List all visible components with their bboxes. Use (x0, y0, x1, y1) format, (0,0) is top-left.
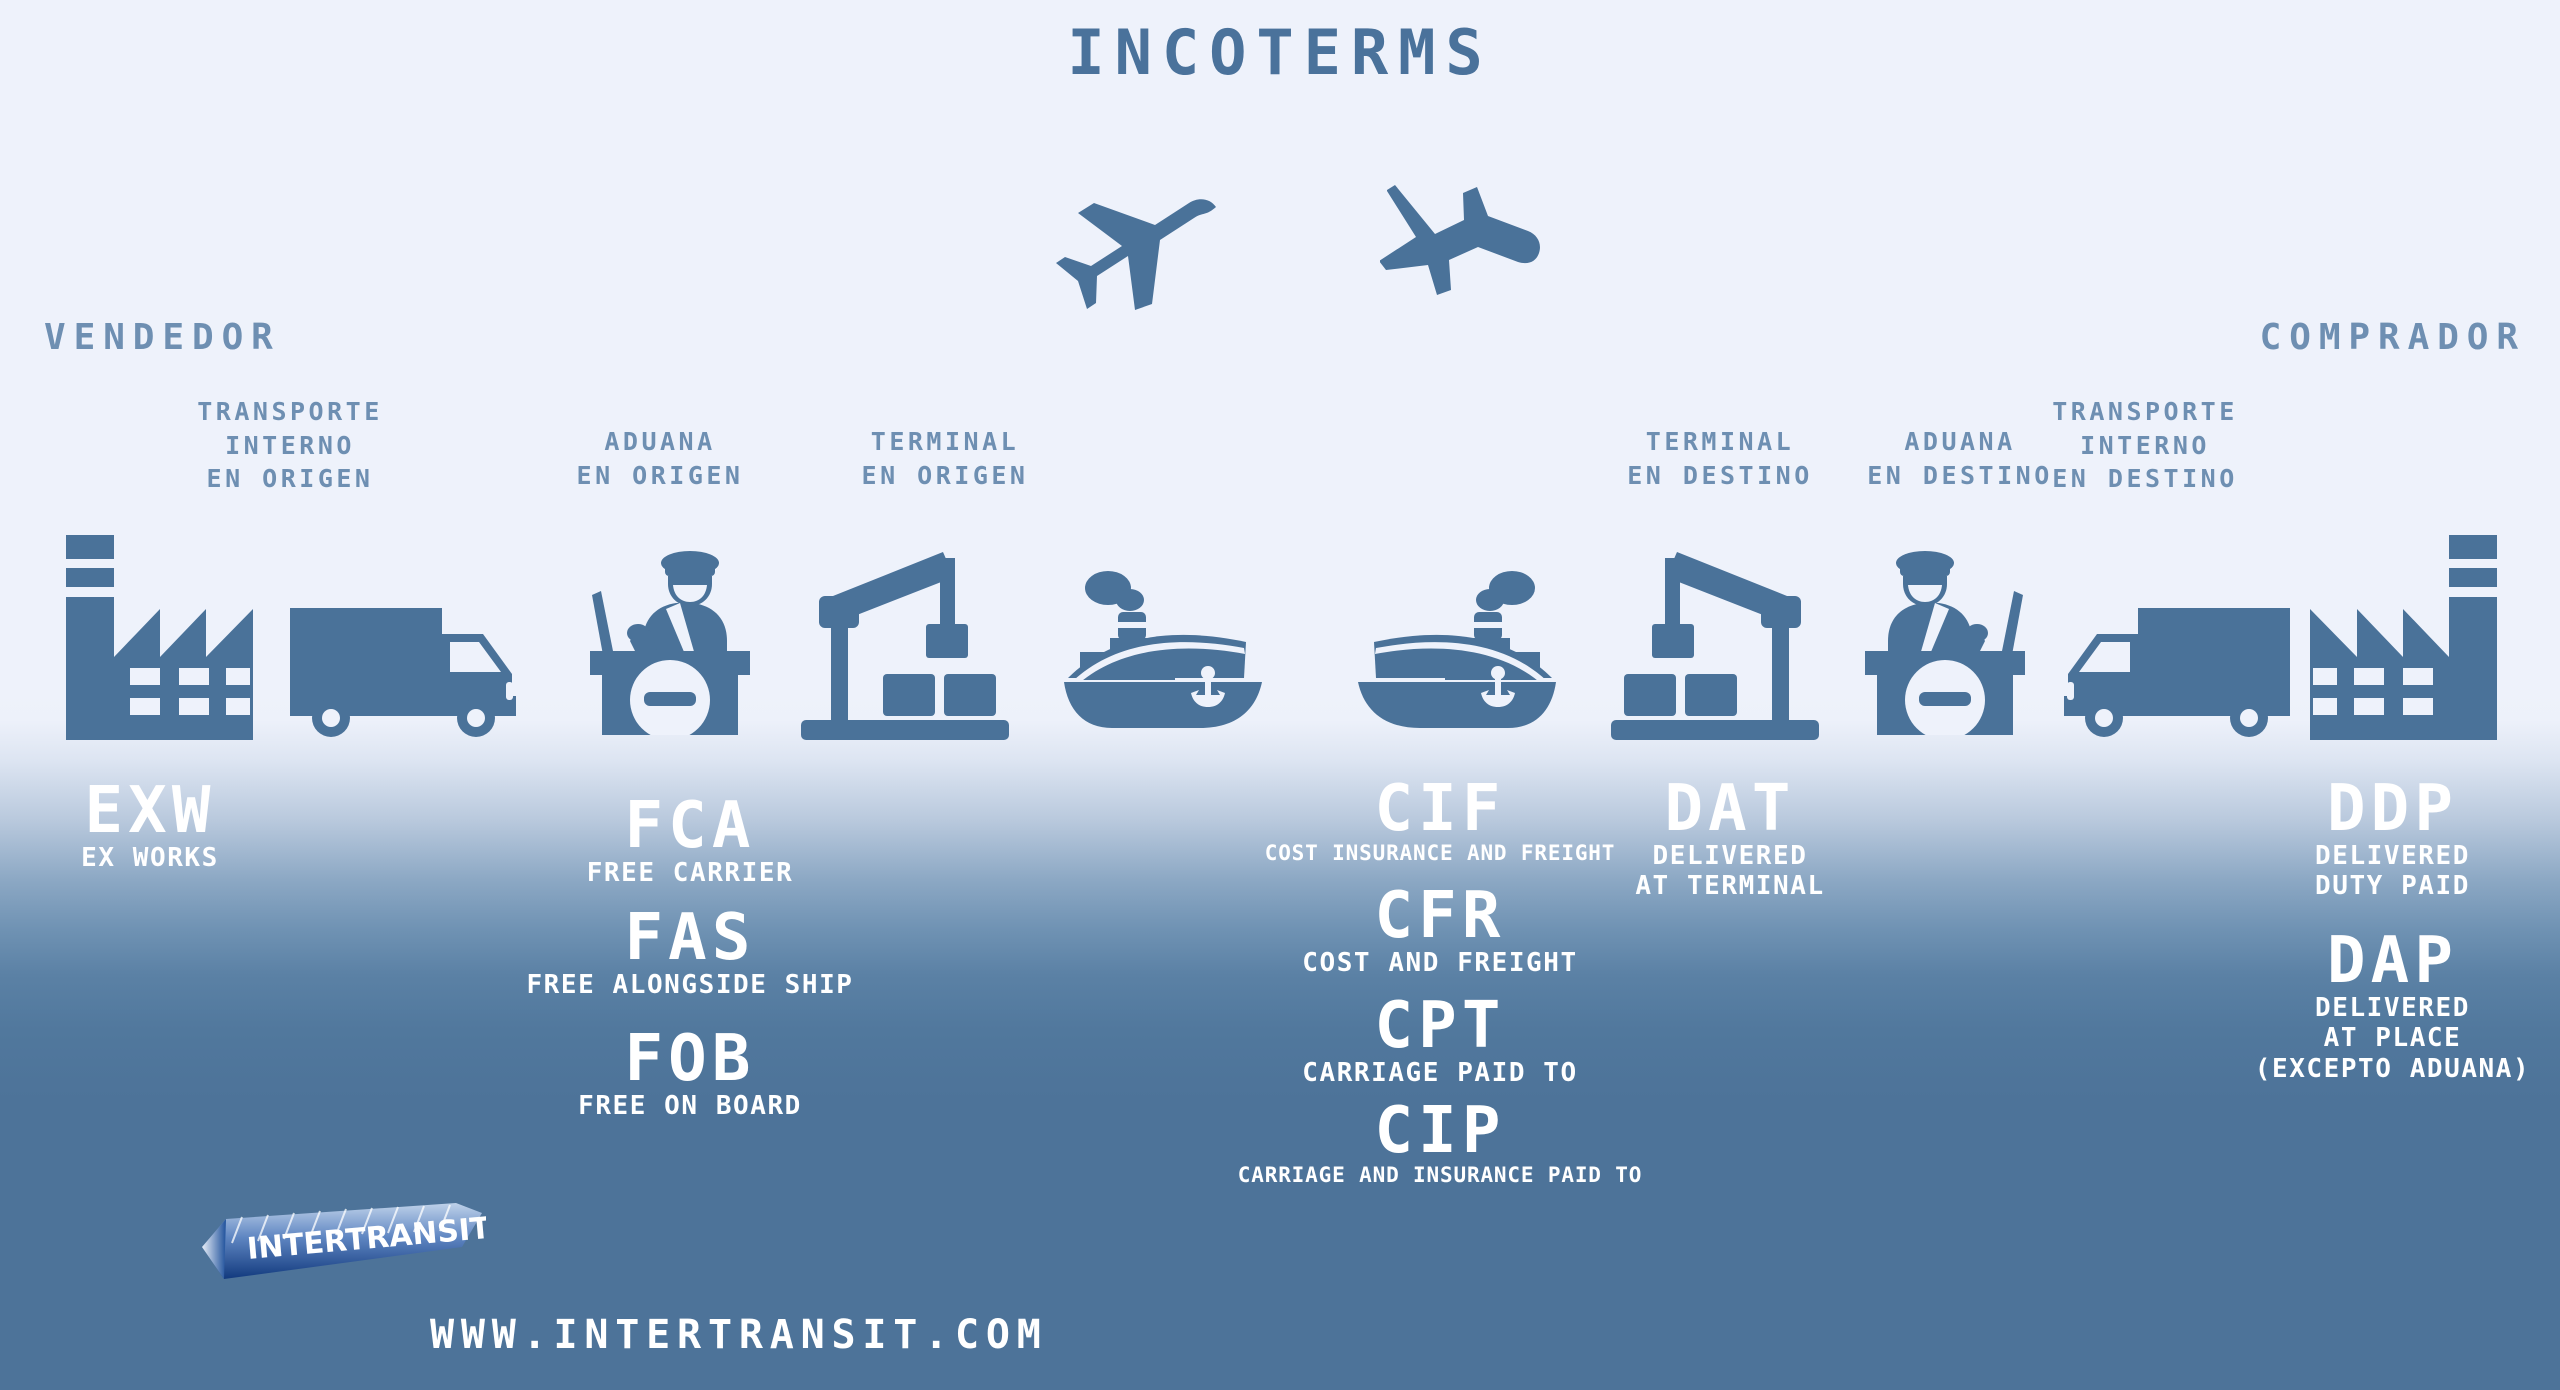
customs-officer-origin-icon (580, 545, 760, 735)
term-cip-desc: CARRIAGE AND INSURANCE PAID TO (1200, 1163, 1680, 1188)
term-cpt-desc: CARRIAGE PAID TO (1200, 1058, 1680, 1089)
term-fas: FAS FREE ALONGSIDE SHIP (440, 907, 940, 1000)
stage-header-terminal-origen: TERMINAL EN ORIGEN (820, 425, 1070, 492)
term-dap-code: DAP (2225, 930, 2560, 993)
term-ddp-desc: DELIVERED DUTY PAID (2225, 841, 2560, 902)
cargo-ship-outbound-icon (1050, 560, 1280, 732)
term-cip: CIP CARRIAGE AND INSURANCE PAID TO (1200, 1100, 1680, 1187)
stage-header-transporte-interno-origen: TRANSPORTE INTERNO EN ORIGEN (170, 395, 410, 496)
term-cip-code: CIP (1200, 1100, 1680, 1163)
port-crane-origin-icon (795, 552, 1015, 740)
factory-destination-icon (2310, 535, 2525, 740)
term-fob-code: FOB (440, 1028, 940, 1091)
term-fca-code: FCA (440, 795, 940, 858)
term-fca-desc: FREE CARRIER (440, 858, 940, 889)
page-title: INCOTERMS (0, 16, 2560, 89)
incoterms-infographic: INCOTERMS VENDEDOR COMPRADOR TRANSPORTE … (0, 0, 2560, 1390)
term-fas-code: FAS (440, 907, 940, 970)
cargo-ship-inbound-icon (1340, 560, 1570, 732)
website-url[interactable]: WWW.INTERTRANSIT.COM (430, 1312, 1048, 1358)
term-ddp-code: DDP (2225, 778, 2560, 841)
term-fob-desc: FREE ON BOARD (440, 1091, 940, 1122)
term-cpt-code: CPT (1200, 995, 1680, 1058)
term-fob: FOB FREE ON BOARD (440, 1028, 940, 1121)
term-dap-desc: DELIVERED AT PLACE (EXCEPTO ADUANA) (2225, 993, 2560, 1085)
truck-destination-icon (2060, 608, 2290, 738)
stage-header-transporte-interno-destino: TRANSPORTE INTERNO EN DESTINO (2020, 395, 2270, 496)
truck-origin-icon (290, 608, 520, 738)
term-dat-code: DAT (1570, 778, 1890, 841)
factory-origin-icon (38, 535, 253, 740)
term-exw: EXW EX WORKS (0, 780, 300, 873)
airplane-departing-icon (1035, 180, 1225, 320)
seller-label: VENDEDOR (44, 317, 281, 358)
term-cpt: CPT CARRIAGE PAID TO (1200, 995, 1680, 1088)
term-fas-desc: FREE ALONGSIDE SHIP (440, 970, 940, 1001)
term-exw-desc: EX WORKS (0, 843, 300, 874)
stage-header-terminal-destino: TERMINAL EN DESTINO (1595, 425, 1845, 492)
term-ddp: DDP DELIVERED DUTY PAID (2225, 778, 2560, 902)
intertransit-logo[interactable]: INTERTRANSIT (196, 1203, 486, 1281)
airplane-arriving-icon (1380, 180, 1550, 320)
term-dap: DAP DELIVERED AT PLACE (EXCEPTO ADUANA) (2225, 930, 2560, 1085)
buyer-label: COMPRADOR (2260, 317, 2526, 358)
customs-officer-destination-icon (1855, 545, 2035, 735)
port-crane-destination-icon (1605, 552, 1825, 740)
term-exw-code: EXW (0, 780, 300, 843)
term-cfr-desc: COST AND FREIGHT (1200, 948, 1680, 979)
term-dat: DAT DELIVERED AT TERMINAL (1570, 778, 1890, 902)
term-dat-desc: DELIVERED AT TERMINAL (1570, 841, 1890, 902)
stage-header-aduana-origen: ADUANA EN ORIGEN (545, 425, 775, 492)
term-fca: FCA FREE CARRIER (440, 795, 940, 888)
